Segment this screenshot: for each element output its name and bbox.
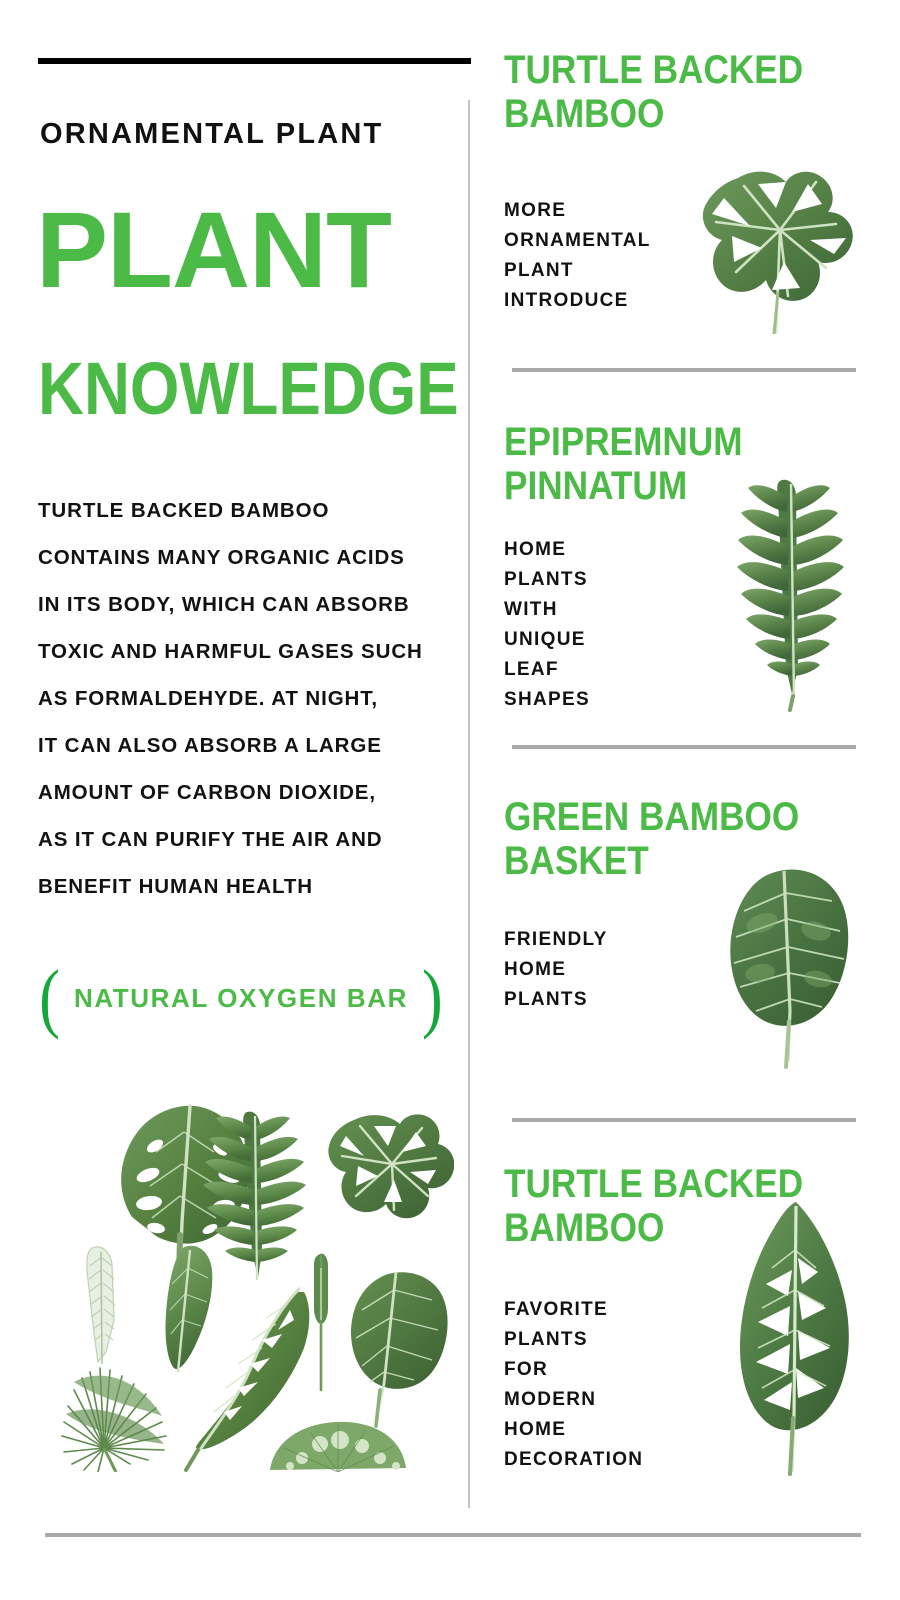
pale-feather-leaf — [87, 1247, 115, 1364]
card-separator — [512, 368, 856, 372]
body-paragraph: TURTLE BACKED BAMBOO CONTAINS MANY ORGAN… — [38, 487, 458, 910]
feather-frond-leaf-icon — [706, 472, 866, 712]
card-desc-line: ORNAMENTAL — [504, 226, 651, 256]
card-description: FAVORITE PLANTS FOR MODERN HOME DECORATI… — [504, 1295, 643, 1475]
leaf-collage-illustration — [44, 1072, 454, 1472]
pointed-monstera-leaf-icon — [718, 1196, 870, 1476]
card-desc-line: HOME — [504, 535, 590, 565]
monstera-leaf-round — [328, 1114, 454, 1218]
natural-oxygen-bar-badge: ( NATURAL OXYGEN BAR ) — [36, 962, 446, 1034]
card-desc-line: HOME — [504, 955, 608, 985]
card-desc-line: PLANT — [504, 256, 651, 286]
body-line: TOXIC AND HARMFUL GASES SUCH — [38, 628, 458, 675]
plant-card[interactable]: GREEN BAMBOO BASKET FRIENDLY HOME PLANTS — [468, 775, 900, 1118]
card-separator — [512, 745, 856, 749]
badge-label: NATURAL OXYGEN BAR — [60, 983, 422, 1014]
body-line: IN ITS BODY, WHICH CAN ABSORB — [38, 581, 458, 628]
monstera-split-leaf-icon — [696, 164, 864, 336]
body-line: AS FORMALDEHYDE. AT NIGHT, — [38, 675, 458, 722]
card-separator — [512, 1118, 856, 1122]
card-title: TURTLE BACKED BAMBOO — [504, 48, 847, 136]
card-description: MORE ORNAMENTAL PLANT INTRODUCE — [504, 196, 651, 316]
card-desc-line: MORE — [504, 196, 651, 226]
card-desc-line: PLANTS — [504, 565, 590, 595]
card-desc-line: DECORATION — [504, 1445, 643, 1475]
card-desc-line: FRIENDLY — [504, 925, 608, 955]
card-desc-line: SHAPES — [504, 685, 590, 715]
eyebrow-label: ORNAMENTAL PLANT — [40, 118, 383, 151]
paren-right-icon: ) — [422, 959, 443, 1037]
spotted-fan-leaf — [270, 1422, 406, 1472]
card-desc-line: FAVORITE — [504, 1295, 643, 1325]
card-desc-line: PLANTS — [504, 1325, 643, 1355]
card-desc-line: FOR — [504, 1355, 643, 1385]
card-description: HOME PLANTS WITH UNIQUE LEAF SHAPES — [504, 535, 590, 715]
card-desc-line: LEAF — [504, 655, 590, 685]
left-column: ORNAMENTAL PLANT PLANT KNOWLEDGE TURTLE … — [0, 0, 468, 1600]
card-desc-line: INTRODUCE — [504, 286, 651, 316]
fan-palm-leaf — [62, 1368, 166, 1472]
right-column: TURTLE BACKED BAMBOO MORE ORNAMENTAL PLA… — [468, 0, 900, 1600]
plant-card[interactable]: EPIPREMNUM PINNATUM HOME PLANTS WITH UNI… — [468, 400, 900, 745]
plant-card[interactable]: TURTLE BACKED BAMBOO FAVORITE PLANTS FOR… — [468, 1140, 900, 1500]
body-line: IT CAN ALSO ABSORB A LARGE — [38, 722, 458, 769]
oval-veined-leaf-icon — [718, 861, 866, 1071]
card-desc-line: UNIQUE — [504, 625, 590, 655]
plant-card[interactable]: TURTLE BACKED BAMBOO MORE ORNAMENTAL PLA… — [468, 0, 900, 360]
card-desc-line: WITH — [504, 595, 590, 625]
body-line: BENEFIT HUMAN HEALTH — [38, 863, 458, 910]
card-desc-line: MODERN — [504, 1385, 643, 1415]
lance-leaf — [165, 1246, 212, 1372]
card-desc-line: HOME — [504, 1415, 643, 1445]
spear-leaf — [314, 1254, 328, 1390]
page-subtitle: KNOWLEDGE — [38, 352, 459, 426]
paren-left-icon: ( — [39, 959, 60, 1037]
page-title: PLANT — [36, 196, 391, 304]
body-line: AS IT CAN PURIFY THE AIR AND — [38, 816, 458, 863]
card-description: FRIENDLY HOME PLANTS — [504, 925, 608, 1015]
body-line: AMOUNT OF CARBON DIOXIDE, — [38, 769, 458, 816]
body-line: TURTLE BACKED BAMBOO — [38, 487, 458, 534]
body-line: CONTAINS MANY ORGANIC ACIDS — [38, 534, 458, 581]
oval-leaf — [351, 1272, 448, 1426]
card-desc-line: PLANTS — [504, 985, 608, 1015]
